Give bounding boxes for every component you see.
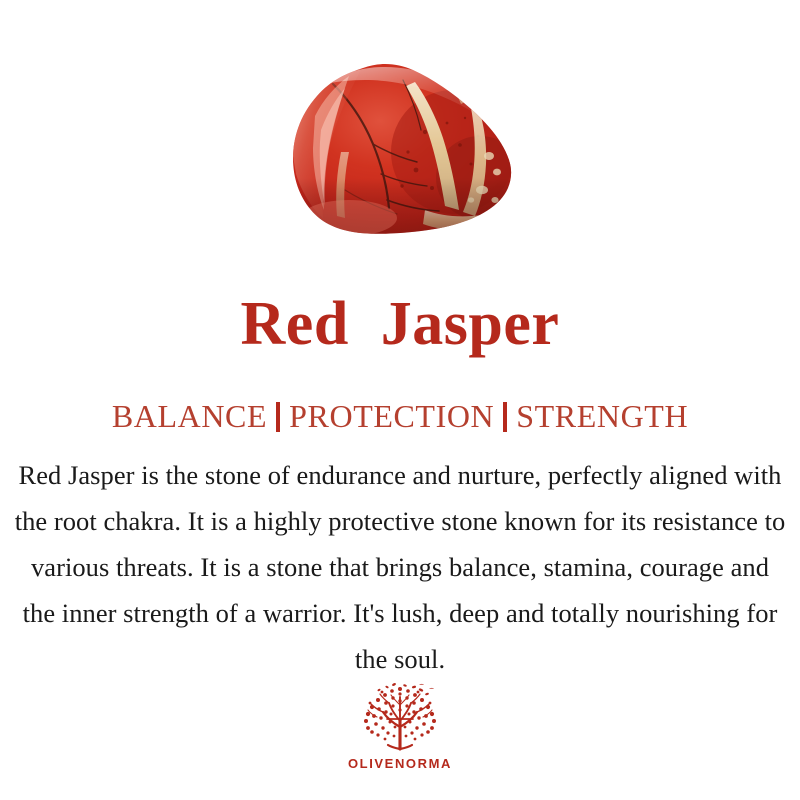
product-image-container xyxy=(0,52,800,252)
brand-name: OLIVENORMA xyxy=(348,756,452,771)
brand-logo: OLIVENORMA xyxy=(0,683,800,771)
product-title: Red Jasper xyxy=(0,288,800,360)
red-jasper-stone-image xyxy=(275,60,525,245)
keyword-protection: PROTECTION xyxy=(289,398,494,434)
keyword-separator-icon xyxy=(276,402,280,432)
product-keywords: BALANCEPROTECTIONSTRENGTH xyxy=(0,396,800,436)
tree-of-life-icon xyxy=(357,683,443,755)
keyword-separator-icon xyxy=(503,402,507,432)
keyword-balance: BALANCE xyxy=(112,398,267,434)
product-info-card: Red Jasper BALANCEPROTECTIONSTRENGTH Red… xyxy=(0,0,800,800)
keyword-strength: STRENGTH xyxy=(516,398,688,434)
product-description: Red Jasper is the stone of endurance and… xyxy=(14,452,786,682)
